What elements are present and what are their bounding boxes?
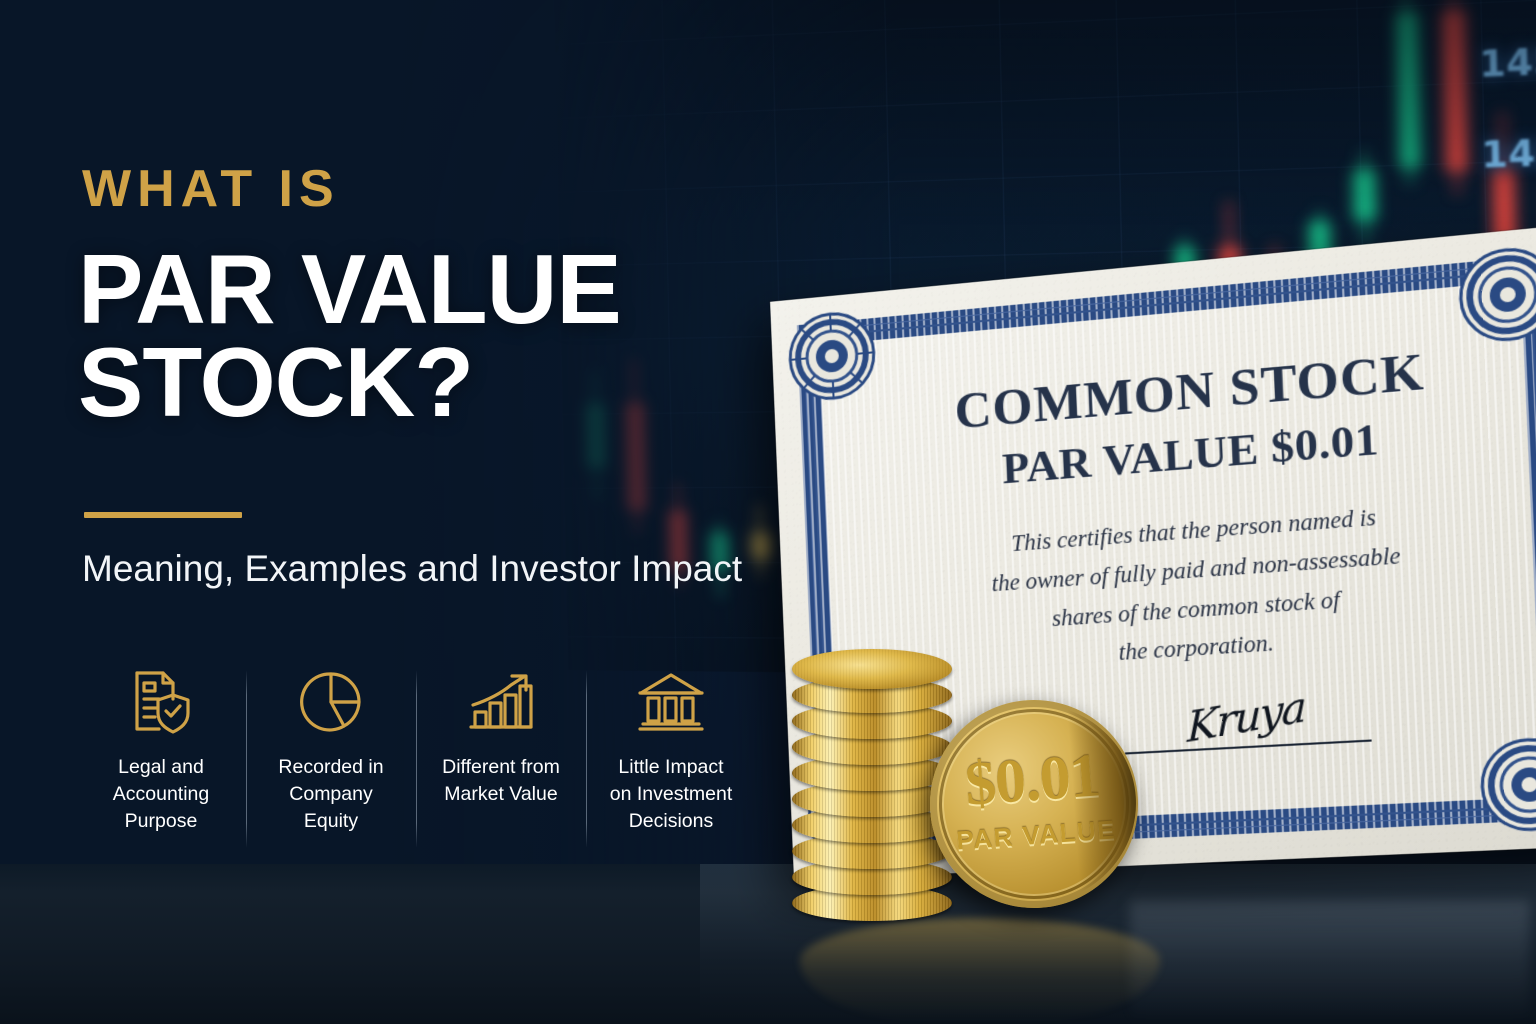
pie-chart-icon: [300, 664, 362, 740]
bar-chart-growth-icon: [467, 664, 535, 740]
par-value-coin: $0.01 PAR VALUE: [923, 693, 1145, 915]
coin-stack: [792, 656, 952, 921]
eyebrow-text: WHAT IS: [82, 159, 340, 219]
rosette-ornament-icon: [1454, 241, 1536, 348]
title-line-2: STOCK?: [78, 336, 621, 429]
price-ticks: 150.25 145.50 142.30: [1419, 0, 1536, 226]
document-shield-icon: [131, 664, 191, 740]
rosette-ornament-icon: [1476, 733, 1536, 836]
page-title: PAR VALUE STOCK?: [78, 243, 621, 429]
subtitle: Meaning, Examples and Investor Impact: [82, 545, 742, 594]
feature-item-company-equity: Recorded in Company Equity: [246, 664, 416, 864]
coin-amount: $0.01: [963, 740, 1102, 820]
rosette-ornament-icon: [784, 306, 879, 406]
gold-divider-rule: [84, 512, 242, 518]
bank-building-icon: [637, 664, 705, 740]
coin-group: $0.01 PAR VALUE: [780, 638, 1160, 938]
certificate-reflection: [1130, 900, 1530, 1024]
feature-label: Recorded in Company Equity: [278, 754, 383, 835]
feature-label: Legal and Accounting Purpose: [113, 754, 209, 835]
certificate-text-block: COMMON STOCK PAR VALUE $0.01 This certif…: [893, 335, 1503, 686]
poster-canvas: 150.25 145.50 142.30: [0, 0, 1536, 1024]
price-tick: 145.50: [1421, 37, 1536, 88]
hero-text-block: WHAT IS PAR VALUE STOCK? Meaning, Exampl…: [82, 0, 782, 1024]
feature-item-legal-accounting: Legal and Accounting Purpose: [76, 664, 246, 864]
title-line-1: PAR VALUE: [78, 243, 621, 336]
feature-label: Little Impact on Investment Decisions: [610, 754, 732, 835]
feature-item-investment-decisions: Little Impact on Investment Decisions: [586, 664, 756, 864]
price-tick: 142.30: [1423, 129, 1536, 178]
feature-list: Legal and Accounting Purpose Recorded in…: [76, 664, 756, 864]
feature-label: Different from Market Value: [442, 754, 560, 808]
feature-item-market-value: Different from Market Value: [416, 664, 586, 864]
